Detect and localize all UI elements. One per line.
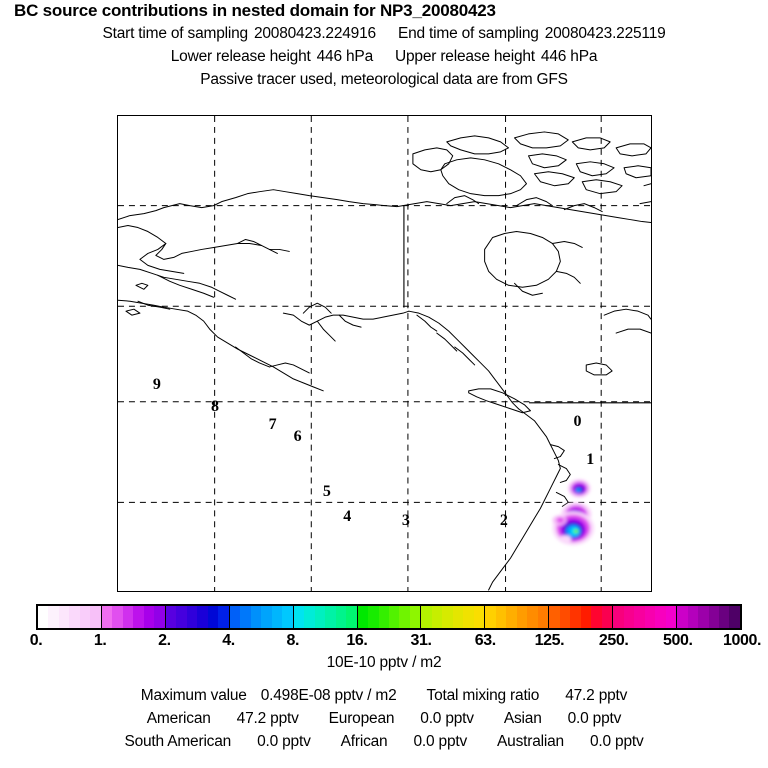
colorbar-band-5-0 [358,606,368,628]
colorbar-band-8-5 [602,606,612,628]
colorbar-band-1-4 [144,606,154,628]
region-label-european: European [329,710,395,727]
footer-block: Maximum value0.498E-08 pptv / m2Total mi… [0,684,768,753]
colorbar-band-0-3 [69,606,79,628]
colorbar-tick-8: 125. [535,632,565,650]
region-row-1: American47.2 pptvEuropean0.0 pptvAsian0.… [0,707,768,730]
colorbar-band-4-1 [304,606,314,628]
colorbar-band-5-3 [389,606,399,628]
colorbar-band-5-4 [399,606,409,628]
start-time-value: 20080423.224916 [254,25,376,42]
start-time-label: Start time of sampling [102,25,248,42]
colorbar-tick-6: 31. [411,632,432,650]
colorbar-band-6-4 [463,606,473,628]
colorbar-band-3-1 [240,606,250,628]
region-value-asian: 0.0 pptv [568,710,622,727]
colorbar-band-9-0 [613,606,623,628]
colorbar-band-1-5 [154,606,164,628]
colorbar-unit-label: 10E-10 pptv / m2 [0,654,768,672]
colorbar-band-0-4 [80,606,90,628]
colorbar-tick-labels: 0.1.2.4.8.16.31.63.125.250.500.1000. [0,632,768,652]
colorbar-segment-4 [294,606,358,628]
concentration-plume [118,116,651,591]
colorbar-band-4-2 [315,606,325,628]
colorbar-gradient [36,604,742,630]
region-label-american: American [147,710,211,727]
colorbar-band-10-5 [729,606,739,628]
region-value-australian: 0.0 pptv [590,733,644,750]
colorbar-band-4-0 [294,606,304,628]
region-value-european: 0.0 pptv [420,710,474,727]
colorbar-band-9-4 [655,606,665,628]
colorbar-band-0-2 [59,606,69,628]
colorbar-band-8-3 [581,606,591,628]
region-value-american: 47.2 pptv [237,710,299,727]
colorbar-band-10-2 [698,606,708,628]
region-label-australian: Australian [497,733,564,750]
colorbar-segment-2 [166,606,230,628]
region-value-south-american: 0.0 pptv [257,733,311,750]
colorbar-band-3-5 [282,606,292,628]
upper-release-value: 446 hPa [541,48,597,65]
colorbar-band-2-5 [218,606,228,628]
colorbar-segment-3 [230,606,294,628]
colorbar-band-5-5 [410,606,420,628]
colorbar-band-8-4 [591,606,601,628]
colorbar-segment-6 [421,606,485,628]
colorbar-tick-3: 4. [222,632,235,650]
colorbar-band-3-4 [272,606,282,628]
colorbar-band-4-3 [325,606,335,628]
region-row-2: South American0.0 pptvAfrican0.0 pptvAus… [0,730,768,753]
colorbar-segment-10 [677,606,740,628]
colorbar-band-7-0 [485,606,495,628]
colorbar-segment-1 [102,606,166,628]
colorbar-segment-8 [549,606,613,628]
lower-release-label: Lower release height [171,48,311,65]
colorbar-band-2-0 [166,606,176,628]
colorbar-tick-1: 1. [94,632,107,650]
plot-frame: 9 8 7 6 5 4 3 2 1 0 [117,115,652,592]
colorbar-tick-0: 0. [30,632,43,650]
colorbar-band-5-1 [368,606,378,628]
colorbar-tick-7: 63. [475,632,496,650]
colorbar-band-7-4 [527,606,537,628]
colorbar-band-0-5 [90,606,100,628]
summary-line: Maximum value0.498E-08 pptv / m2Total mi… [0,684,768,707]
colorbar-band-8-0 [549,606,559,628]
colorbar-band-2-2 [187,606,197,628]
colorbar-band-6-0 [421,606,431,628]
colorbar-band-1-3 [133,606,143,628]
end-time-label: End time of sampling [398,25,539,42]
colorbar-band-2-3 [197,606,207,628]
colorbar-band-1-0 [102,606,112,628]
colorbar-tick-10: 500. [663,632,693,650]
colorbar-band-8-2 [570,606,580,628]
colorbar-tick-11: 1000. [723,632,761,650]
colorbar-band-4-5 [346,606,356,628]
colorbar-tick-4: 8. [286,632,299,650]
colorbar-band-7-3 [517,606,527,628]
colorbar-tick-5: 16. [346,632,367,650]
region-label-south-american: South American [124,733,231,750]
page-title: BC source contributions in nested domain… [14,0,768,22]
colorbar-band-7-2 [506,606,516,628]
colorbar-segment-7 [485,606,549,628]
colorbar-band-10-4 [719,606,729,628]
colorbar-band-10-1 [688,606,698,628]
colorbar-band-9-2 [634,606,644,628]
colorbar-band-0-1 [48,606,58,628]
header-block: BC source contributions in nested domain… [0,0,768,91]
end-time-value: 20080423.225119 [545,25,666,42]
release-height-line: Lower release height446 hPaUpper release… [0,45,768,68]
colorbar-band-9-3 [645,606,655,628]
colorbar-band-9-5 [666,606,676,628]
colorbar-tick-2: 2. [158,632,171,650]
colorbar-band-8-1 [560,606,570,628]
colorbar-band-10-0 [677,606,687,628]
colorbar-segment-5 [358,606,422,628]
colorbar-segment-9 [613,606,677,628]
colorbar-band-2-4 [208,606,218,628]
colorbar-band-9-1 [624,606,634,628]
colorbar-band-0-0 [38,606,48,628]
total-mixing-ratio-label: Total mixing ratio [427,687,540,704]
colorbar [36,604,742,630]
tracer-note: Passive tracer used, meteorological data… [0,68,768,91]
colorbar-band-7-1 [496,606,506,628]
lower-release-value: 446 hPa [317,48,373,65]
colorbar-band-3-0 [230,606,240,628]
colorbar-band-4-4 [336,606,346,628]
upper-release-label: Upper release height [395,48,535,65]
colorbar-band-10-3 [709,606,719,628]
colorbar-band-7-5 [538,606,548,628]
colorbar-tick-9: 250. [599,632,629,650]
region-value-african: 0.0 pptv [413,733,467,750]
colorbar-band-6-5 [474,606,484,628]
sampling-time-line: Start time of sampling20080423.224916End… [0,22,768,45]
region-label-asian: Asian [504,710,542,727]
colorbar-band-3-2 [251,606,261,628]
colorbar-band-3-3 [261,606,271,628]
colorbar-band-1-2 [123,606,133,628]
maximum-value-label: Maximum value [141,687,247,704]
colorbar-band-2-1 [176,606,186,628]
colorbar-segment-0 [38,606,102,628]
region-label-african: African [341,733,388,750]
maximum-value: 0.498E-08 pptv / m2 [261,687,397,704]
total-mixing-ratio-value: 47.2 pptv [565,687,627,704]
colorbar-band-6-3 [453,606,463,628]
colorbar-band-6-2 [442,606,452,628]
colorbar-band-6-1 [432,606,442,628]
colorbar-band-5-2 [379,606,389,628]
colorbar-band-1-1 [112,606,122,628]
map-plot-area: 9 8 7 6 5 4 3 2 1 0 [117,115,652,592]
